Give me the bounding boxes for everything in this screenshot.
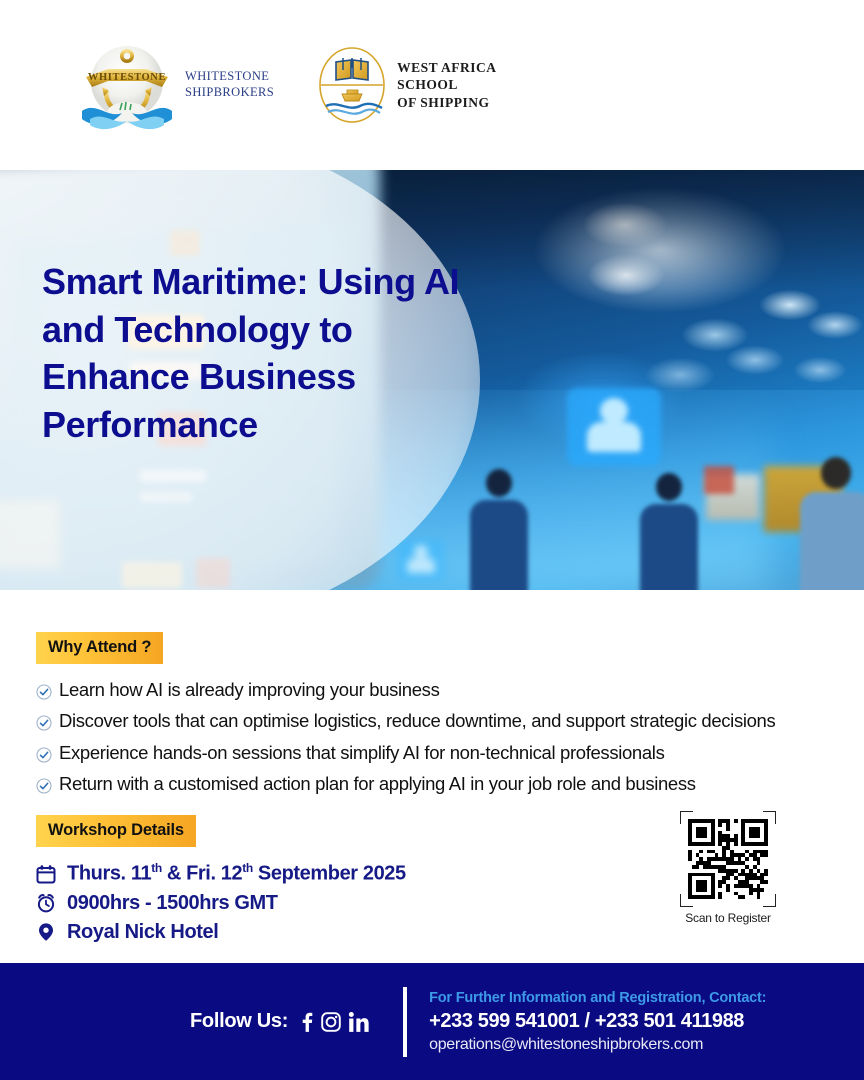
workshop-date-text: Thurs. 11th & Fri. 12th September 2025: [67, 861, 406, 886]
whitestone-wordmark-line2: SHIPBROKERS: [185, 85, 274, 101]
wass-wordmark-line1: WEST AFRICA: [397, 59, 496, 77]
why-attend-badge: Why Attend ?: [36, 632, 163, 664]
instagram-icon[interactable]: [320, 1011, 342, 1033]
why-attend-section: Why Attend ? Learn how AI is already imp…: [26, 632, 838, 795]
qr-caption: Scan to Register: [680, 911, 776, 925]
location-pin-icon: [36, 922, 56, 942]
follow-us-block: Follow Us:: [190, 1010, 369, 1034]
wass-wordmark: WEST AFRICA SCHOOL OF SHIPPING: [397, 59, 496, 112]
logo-whitestone-shipbrokers: WHITESTONE WHITESTONE SHIPBROKERS: [78, 39, 274, 131]
wass-wordmark-line2: SCHOOL: [397, 76, 496, 94]
worker-silhouette: [640, 473, 698, 590]
list-item: Experience hands-on sessions that simpli…: [36, 741, 838, 764]
calendar-icon: [36, 864, 56, 884]
list-item: Return with a customised action plan for…: [36, 772, 838, 795]
worker-silhouette: [800, 457, 864, 590]
hero-banner: Smart Maritime: Using AI and Technology …: [0, 170, 864, 590]
facebook-icon[interactable]: [297, 1010, 315, 1034]
footer-bar: Follow Us:: [0, 963, 864, 1080]
logo-west-africa-school-of-shipping: WEST AFRICA SCHOOL OF SHIPPING: [316, 46, 496, 124]
hologram-user-icon-small: [398, 540, 444, 580]
workshop-details-section: Workshop Details Thurs. 11th & Fri. 12th…: [26, 815, 838, 944]
why-attend-list: Learn how AI is already improving your b…: [36, 678, 838, 795]
workshop-time-text: 0900hrs - 1500hrs GMT: [67, 892, 278, 915]
qr-code[interactable]: [680, 811, 776, 907]
list-item-text: Learn how AI is already improving your b…: [59, 678, 439, 701]
hologram-user-icon: [567, 388, 661, 466]
qr-code-matrix: [688, 819, 768, 899]
contact-heading: For Further Information and Registration…: [429, 990, 766, 1006]
linkedin-icon[interactable]: [347, 1010, 369, 1034]
list-item-text: Discover tools that can optimise logisti…: [59, 709, 775, 732]
svg-text:WHITESTONE: WHITESTONE: [88, 72, 166, 83]
header-logos: WHITESTONE WHITESTONE SHIPBROKERS: [0, 0, 864, 170]
check-circle-icon: [36, 713, 52, 729]
whitestone-wordmark-line1: WHITESTONE: [185, 69, 274, 85]
worker-silhouette: [470, 469, 528, 590]
contact-phones[interactable]: +233 599 541001 / +233 501 411988: [429, 1010, 766, 1033]
check-circle-icon: [36, 745, 52, 761]
check-circle-icon: [36, 682, 52, 698]
list-item: Learn how AI is already improving your b…: [36, 678, 838, 701]
workshop-venue-text: Royal Nick Hotel: [67, 921, 218, 944]
workshop-details-badge: Workshop Details: [36, 815, 196, 847]
whitestone-wordmark: WHITESTONE SHIPBROKERS: [185, 69, 274, 100]
list-item-text: Return with a customised action plan for…: [59, 772, 696, 795]
warehouse-crate-accent: [704, 466, 734, 494]
contact-email[interactable]: operations@whitestoneshipbrokers.com: [429, 1036, 766, 1054]
whitestone-anchor-logo-icon: WHITESTONE: [78, 39, 176, 131]
footer-divider: [403, 987, 407, 1057]
social-icons: [297, 1010, 369, 1034]
wass-wordmark-line3: OF SHIPPING: [397, 94, 496, 112]
wass-book-ship-logo-icon: [316, 46, 388, 124]
hero-title: Smart Maritime: Using AI and Technology …: [42, 258, 462, 448]
content-body: Why Attend ? Learn how AI is already imp…: [0, 632, 864, 944]
list-item-text: Experience hands-on sessions that simpli…: [59, 741, 664, 764]
check-circle-icon: [36, 776, 52, 792]
follow-us-label: Follow Us:: [190, 1010, 288, 1033]
qr-registration-block[interactable]: Scan to Register: [680, 811, 776, 925]
list-item: Discover tools that can optimise logisti…: [36, 709, 838, 732]
alarm-clock-icon: [36, 893, 56, 913]
contact-block: For Further Information and Registration…: [429, 990, 766, 1054]
